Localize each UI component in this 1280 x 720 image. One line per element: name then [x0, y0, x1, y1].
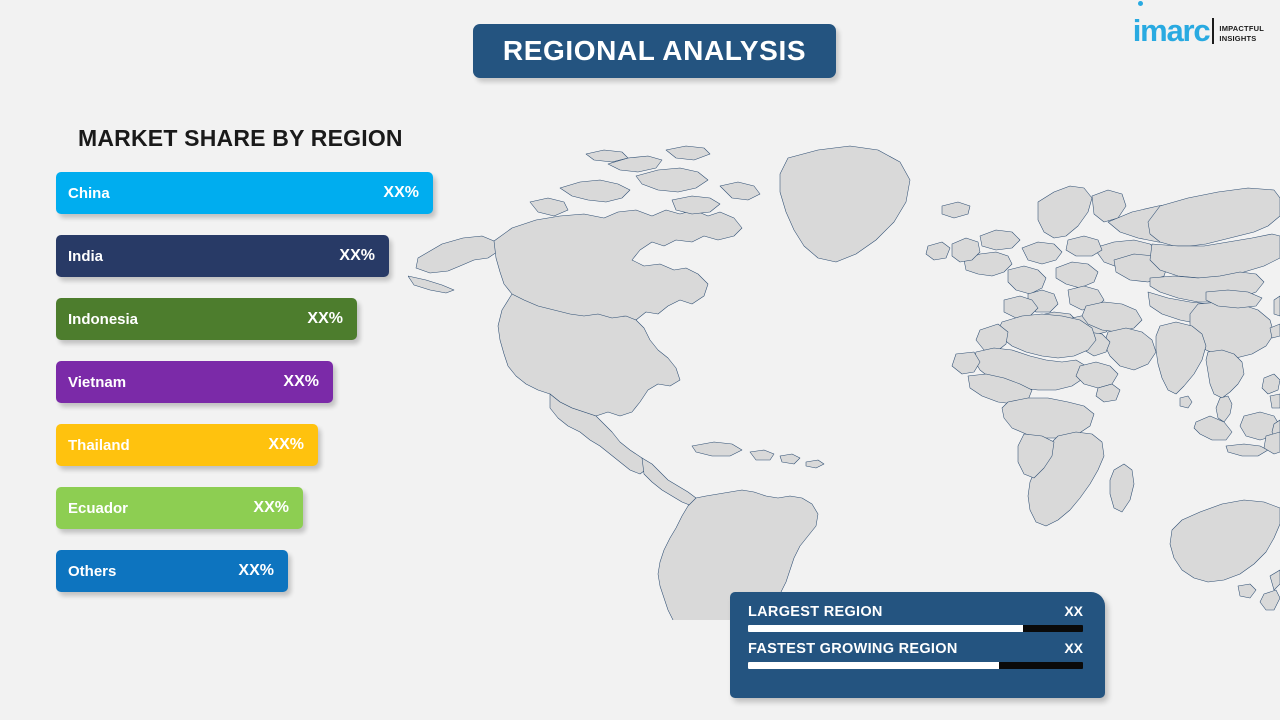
world-map: [408, 140, 1280, 620]
logo-dot-icon: [1138, 1, 1143, 6]
stat-header: FASTEST GROWING REGIONXX: [748, 640, 1083, 657]
bar-value: XX%: [253, 499, 289, 517]
stat-progress-track: [748, 625, 1083, 632]
logo-tagline-line1: IMPACTFUL: [1219, 24, 1264, 34]
map-landmasses: [408, 146, 1280, 620]
stat-row: FASTEST GROWING REGIONXX: [748, 640, 1083, 669]
market-share-bar-india[interactable]: IndiaXX%: [56, 235, 389, 277]
bar-value: XX%: [268, 436, 304, 454]
logo-divider: [1212, 18, 1214, 44]
stat-progress-fill: [748, 662, 999, 669]
bar-label: Indonesia: [68, 311, 138, 328]
bar-label: Thailand: [68, 437, 130, 454]
market-share-bar-ecuador[interactable]: EcuadorXX%: [56, 487, 303, 529]
stat-row: LARGEST REGIONXX: [748, 603, 1083, 632]
market-share-bar-china[interactable]: ChinaXX%: [56, 172, 433, 214]
bar-label: Others: [68, 563, 116, 580]
bar-value: XX%: [307, 310, 343, 328]
bar-label: China: [68, 185, 110, 202]
stat-progress-fill: [748, 625, 1023, 632]
stat-label: LARGEST REGION: [748, 604, 883, 620]
bar-label: Vietnam: [68, 374, 126, 391]
bar-label: Ecuador: [68, 500, 128, 517]
region-stats-box: LARGEST REGIONXXFASTEST GROWING REGIONXX: [730, 592, 1105, 698]
market-share-bar-vietnam[interactable]: VietnamXX%: [56, 361, 333, 403]
imarc-logo: imarc IMPACTFUL INSIGHTS: [1133, 10, 1264, 46]
stat-header: LARGEST REGIONXX: [748, 603, 1083, 620]
stat-progress-track: [748, 662, 1083, 669]
bar-value: XX%: [339, 247, 375, 265]
market-share-bar-indonesia[interactable]: IndonesiaXX%: [56, 298, 357, 340]
bar-value: XX%: [238, 562, 274, 580]
market-share-bar-list: ChinaXX%IndiaXX%IndonesiaXX%VietnamXX%Th…: [56, 172, 456, 613]
stat-value: XX: [1064, 603, 1083, 619]
logo-wordmark: imarc: [1133, 15, 1210, 46]
market-share-heading: MARKET SHARE BY REGION: [78, 125, 403, 152]
slide-canvas: REGIONAL ANALYSIS imarc IMPACTFUL INSIGH…: [0, 0, 1280, 720]
logo-tagline-line2: INSIGHTS: [1219, 34, 1264, 44]
bar-label: India: [68, 248, 103, 265]
page-title: REGIONAL ANALYSIS: [503, 35, 806, 67]
logo-tagline: IMPACTFUL INSIGHTS: [1219, 24, 1264, 43]
world-map-svg: [408, 140, 1280, 620]
market-share-bar-thailand[interactable]: ThailandXX%: [56, 424, 318, 466]
market-share-bar-others[interactable]: OthersXX%: [56, 550, 288, 592]
bar-value: XX%: [283, 373, 319, 391]
stat-value: XX: [1064, 640, 1083, 656]
page-title-banner: REGIONAL ANALYSIS: [473, 24, 836, 78]
stat-label: FASTEST GROWING REGION: [748, 641, 958, 657]
